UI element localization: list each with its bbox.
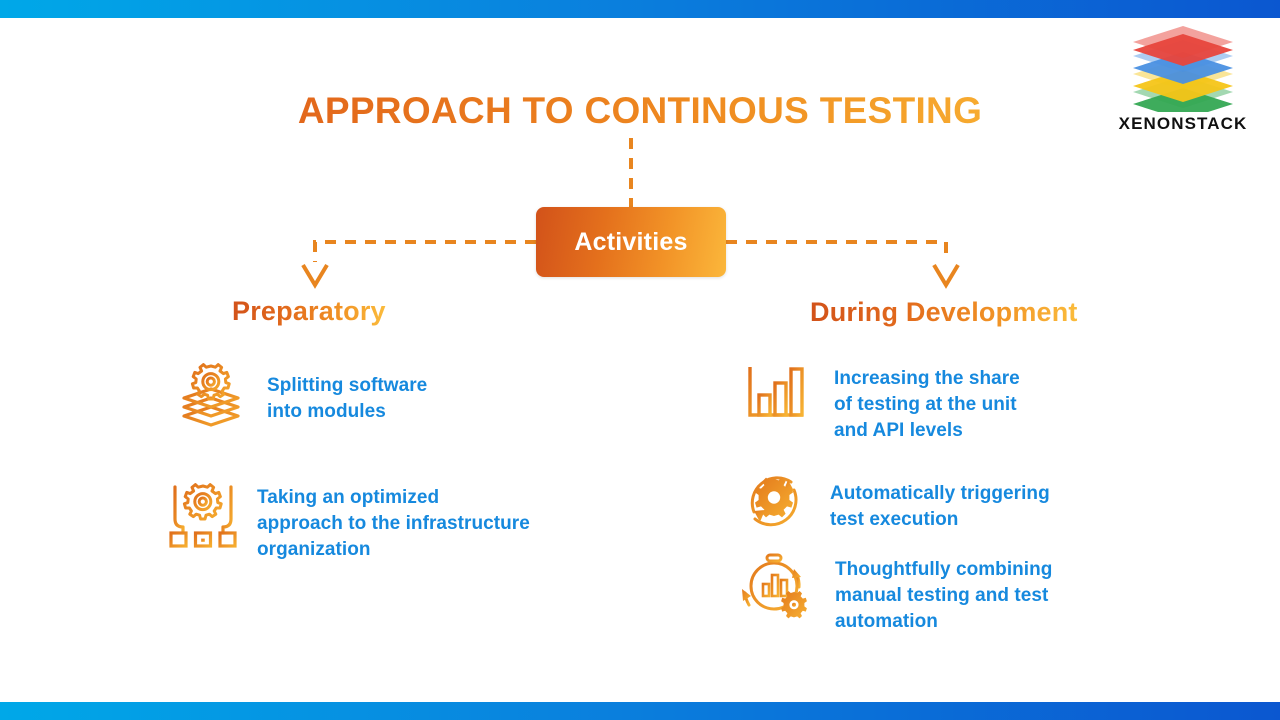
infrastructure-gear-nodes-icon [167,479,239,551]
list-item: Increasing the share of testing at the u… [745,363,1020,445]
top-accent-bar [0,0,1280,18]
arrow-head-right-icon [934,265,958,285]
activities-label: Activities [574,228,687,257]
stopwatch-chart-gear-icon [739,549,813,623]
list-item-label: Splitting software into modules [267,373,427,425]
bottom-accent-bar [0,702,1280,720]
list-item: Splitting software into modules [176,360,427,430]
list-item-label: Taking an optimized approach to the infr… [257,485,530,564]
list-item-label: Automatically triggering test execution [830,481,1050,533]
layered-stack-gear-icon [176,360,246,430]
branch-heading-preparatory: Preparatory [232,296,386,327]
page-title: APPROACH TO CONTINOUS TESTING [0,90,1280,132]
connector-right-branch [726,242,946,262]
list-item-label: Thoughtfully combining manual testing an… [835,557,1052,636]
branch-heading-during-development: During Development [810,297,1078,328]
activities-node[interactable]: Activities [536,207,726,277]
list-item-label: Increasing the share of testing at the u… [834,366,1020,445]
list-item: Automatically triggering test execution [741,468,1050,534]
arrow-head-left-icon [303,265,327,285]
list-item: Thoughtfully combining manual testing an… [739,549,1052,636]
gear-refresh-cycle-icon [741,468,807,534]
connector-left-branch [315,242,536,262]
slide-canvas: XENONSTACK APPROACH TO CONTINOUS TESTING… [0,0,1280,720]
list-item: Taking an optimized approach to the infr… [167,479,530,564]
bar-chart-icon [745,363,807,425]
